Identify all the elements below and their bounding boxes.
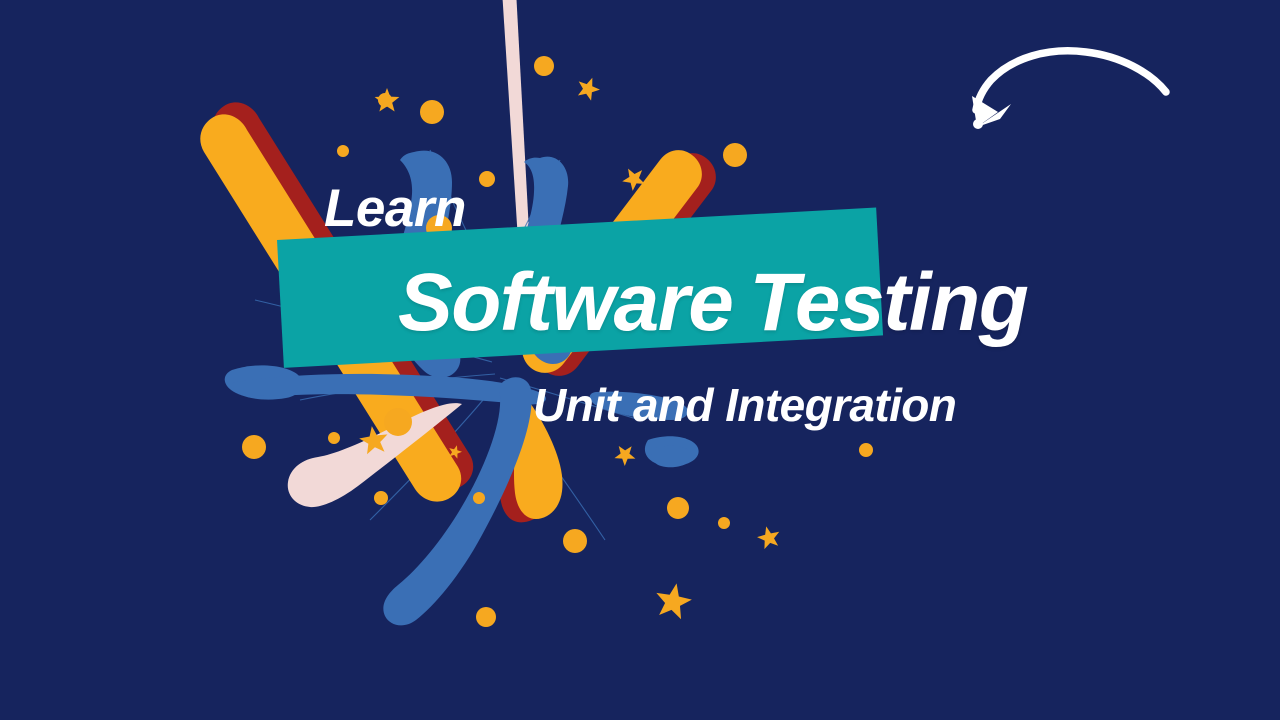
confetti-dot [723,143,747,167]
background-artwork [0,0,1280,720]
confetti-dot [718,517,730,529]
slide-canvas: Learn SoftwareTesting Unitand Integratio… [0,0,1280,720]
confetti-dot [384,408,412,436]
confetti-dot [563,529,587,553]
confetti-dot [534,56,554,76]
confetti-dot [420,100,444,124]
confetti-dot [374,491,388,505]
confetti-dot [242,435,266,459]
confetti-dot [476,607,496,627]
background-fill [0,0,1280,720]
confetti-dot [859,443,873,457]
confetti-dot [337,145,349,157]
confetti-dot [473,492,485,504]
confetti-dot [328,432,340,444]
confetti-dot [479,171,495,187]
confetti-dot [667,497,689,519]
